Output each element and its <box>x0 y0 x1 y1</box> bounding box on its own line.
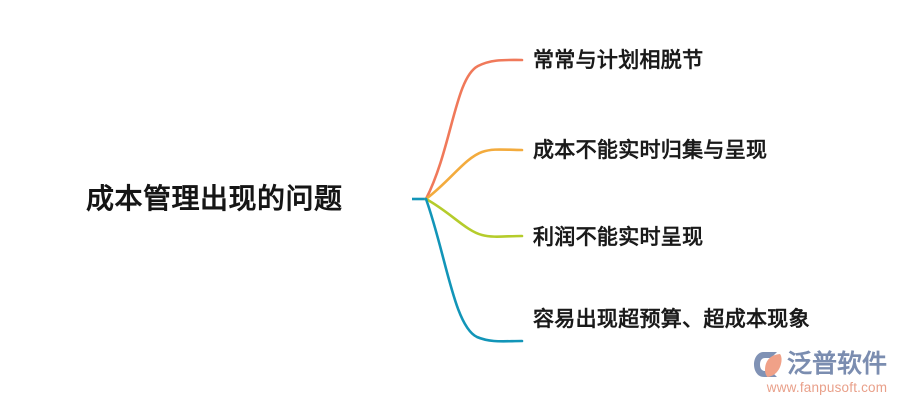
mind-map-canvas: 成本管理出现的问题 常常与计划相脱节 成本不能实时归集与呈现 利润不能实时呈现 … <box>0 0 905 401</box>
branch-node-label-3: 利润不能实时呈现 <box>533 221 703 254</box>
branch-line-3 <box>426 199 522 237</box>
watermark: 泛普软件 www.fanpusoft.com <box>753 349 901 397</box>
branch-node-label-1: 常常与计划相脱节 <box>533 44 703 77</box>
watermark-brand-row: 泛普软件 <box>753 349 901 379</box>
branch-node-label-2: 成本不能实时归集与呈现 <box>533 134 767 167</box>
branch-node-label-4: 容易出现超预算、超成本现象 <box>533 303 853 336</box>
branch-line-2 <box>426 150 522 200</box>
branch-line-1 <box>426 60 522 199</box>
branch-line-4 <box>426 199 522 341</box>
root-node-label: 成本管理出现的问题 <box>86 179 343 219</box>
watermark-brand-text: 泛普软件 <box>787 350 887 379</box>
fanpu-logo-icon <box>753 350 784 379</box>
watermark-url-text: www.fanpusoft.com <box>753 380 901 396</box>
